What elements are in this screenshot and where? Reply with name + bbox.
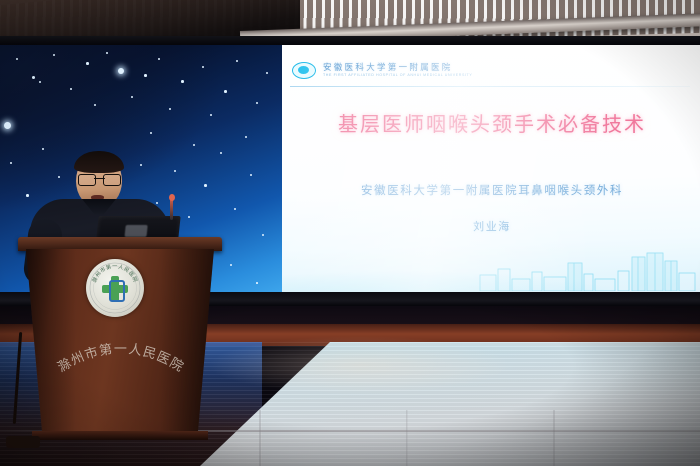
slide-header-org-cn: 安徽医科大学第一附属医院 (323, 64, 472, 73)
slide-title: 基层医师咽喉头颈手术必备技术 (282, 108, 700, 137)
slide-header: 安徽医科大学第一附属医院 THE FIRST AFFILIATED HOSPIT… (292, 62, 472, 79)
presentation-slide: 安徽医科大学第一附属医院 THE FIRST AFFILIATED HOSPIT… (282, 44, 700, 294)
glasses-lens-left (78, 174, 96, 186)
podium-engraved-name: 滁州市第一人民医院 (48, 333, 194, 379)
lectern-podium: 滁州市第一人民医院 滁州市第一人民医院 (20, 237, 220, 442)
glasses-lens-right (103, 174, 121, 186)
podium-top-surface (18, 237, 222, 251)
speaker-hair (74, 151, 124, 173)
gooseneck-microphone (170, 198, 173, 220)
slide-skyline-graphic (472, 249, 700, 291)
slide-header-org-en: THE FIRST AFFILIATED HOSPITAL OF ANHUI M… (323, 73, 472, 77)
hospital-emblem-icon (292, 62, 316, 79)
svg-text:滁州市第一人民医院: 滁州市第一人民医院 (55, 342, 187, 376)
speaker-glasses-icon (78, 174, 121, 184)
slide-header-text: 安徽医科大学第一附属医院 THE FIRST AFFILIATED HOSPIT… (323, 64, 472, 78)
laptop-logo (124, 225, 147, 237)
podium-floor-block (6, 436, 40, 448)
slide-subtitle: 安徽医科大学第一附属医院耳鼻咽喉头颈外科 (282, 182, 700, 198)
podium-base-trim (32, 431, 208, 440)
medical-cross-symbol (102, 276, 128, 302)
slide-presenter-name: 刘业海 (282, 218, 700, 234)
lecture-scene-photo: 安徽医科大学第一附属医院 THE FIRST AFFILIATED HOSPIT… (0, 0, 700, 466)
screen-top-bezel (0, 36, 700, 45)
hospital-cross-logo: 滁州市第一人民医院 (86, 259, 144, 317)
slide-header-divider (290, 86, 690, 87)
